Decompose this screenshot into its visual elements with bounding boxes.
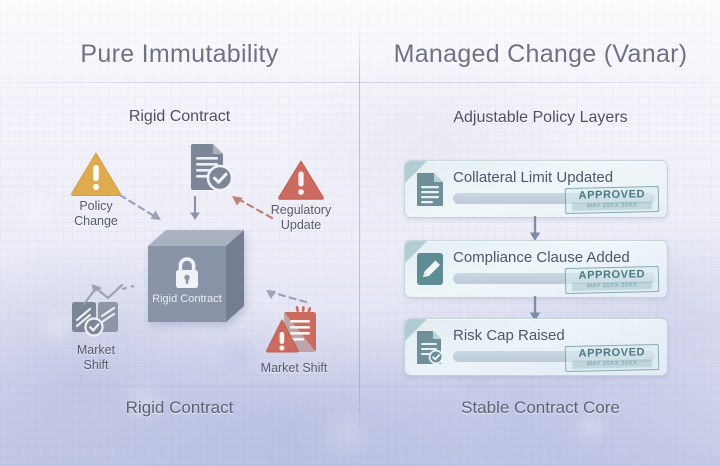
stamp-label: APPROVED xyxy=(566,268,658,283)
card-collateral-limit[interactable]: Collateral Limit Updated APPROVED MAY 20… xyxy=(404,160,668,218)
background-mottle xyxy=(0,0,720,466)
status-badge-approved: APPROVED MAY 20XX 20XX xyxy=(565,266,660,294)
document-check-icon xyxy=(415,330,445,364)
header-divider xyxy=(0,82,720,83)
status-badge-approved: APPROVED MAY 20XX 20XX xyxy=(565,344,660,372)
grid-texture xyxy=(0,0,720,466)
stamp-date: MAY 20XX 20XX xyxy=(572,281,652,291)
warning-triangle-icon xyxy=(70,150,122,196)
right-panel-footer: Stable Contract Core xyxy=(361,398,720,418)
node-label: Market Shift xyxy=(248,361,340,376)
left-panel-footer: Rigid Contract xyxy=(0,398,359,418)
right-panel-subhead: Adjustable Policy Layers xyxy=(361,109,720,127)
node-label: Market Shift xyxy=(58,343,134,373)
right-panel-title: Managed Change (Vanar) xyxy=(361,40,720,69)
document-warning-icon xyxy=(262,306,326,358)
left-panel-title: Pure Immutability xyxy=(0,40,359,69)
document-check-icon xyxy=(181,138,237,194)
document-icon xyxy=(415,172,445,206)
arrow-market-right-to-cube xyxy=(248,284,310,310)
arrow-doc-to-cube xyxy=(188,196,202,222)
arrow-policy-to-cube xyxy=(118,192,168,226)
card-title: Collateral Limit Updated xyxy=(453,169,613,186)
node-market-shift-right: Market Shift xyxy=(248,306,340,376)
stamp-date: MAY 20XX 20XX xyxy=(572,359,652,369)
node-rigid-document xyxy=(178,138,240,194)
footer-divider xyxy=(0,386,720,387)
center-divider xyxy=(359,28,360,430)
svg-text:Rigid Contract: Rigid Contract xyxy=(152,293,222,305)
status-badge-approved: APPROVED MAY 20XX 20XX xyxy=(565,186,660,214)
arrow-regulatory-to-cube xyxy=(222,192,274,222)
rigid-contract-cube: Rigid Contract xyxy=(140,228,248,328)
card-risk-cap[interactable]: Risk Cap Raised APPROVED MAY 20XX 20XX xyxy=(404,318,668,376)
left-panel-subhead: Rigid Contract xyxy=(0,108,359,126)
card-title: Risk Cap Raised xyxy=(453,327,565,344)
card-compliance-clause[interactable]: Compliance Clause Added APPROVED MAY 20X… xyxy=(404,240,668,298)
stamp-date: MAY 20XX 20XX xyxy=(572,201,652,211)
warning-triangle-icon xyxy=(277,158,325,200)
stamp-label: APPROVED xyxy=(566,188,658,203)
node-market-shift-left: Market Shift xyxy=(58,300,134,373)
arrow-market-left-to-cube xyxy=(78,278,138,308)
pencil-edit-icon xyxy=(415,252,445,286)
infographic-canvas: Pure Immutability Managed Change (Vanar)… xyxy=(0,0,720,466)
stamp-label: APPROVED xyxy=(566,346,658,361)
arrow-card1-to-card2 xyxy=(528,216,542,242)
card-title: Compliance Clause Added xyxy=(453,249,630,266)
